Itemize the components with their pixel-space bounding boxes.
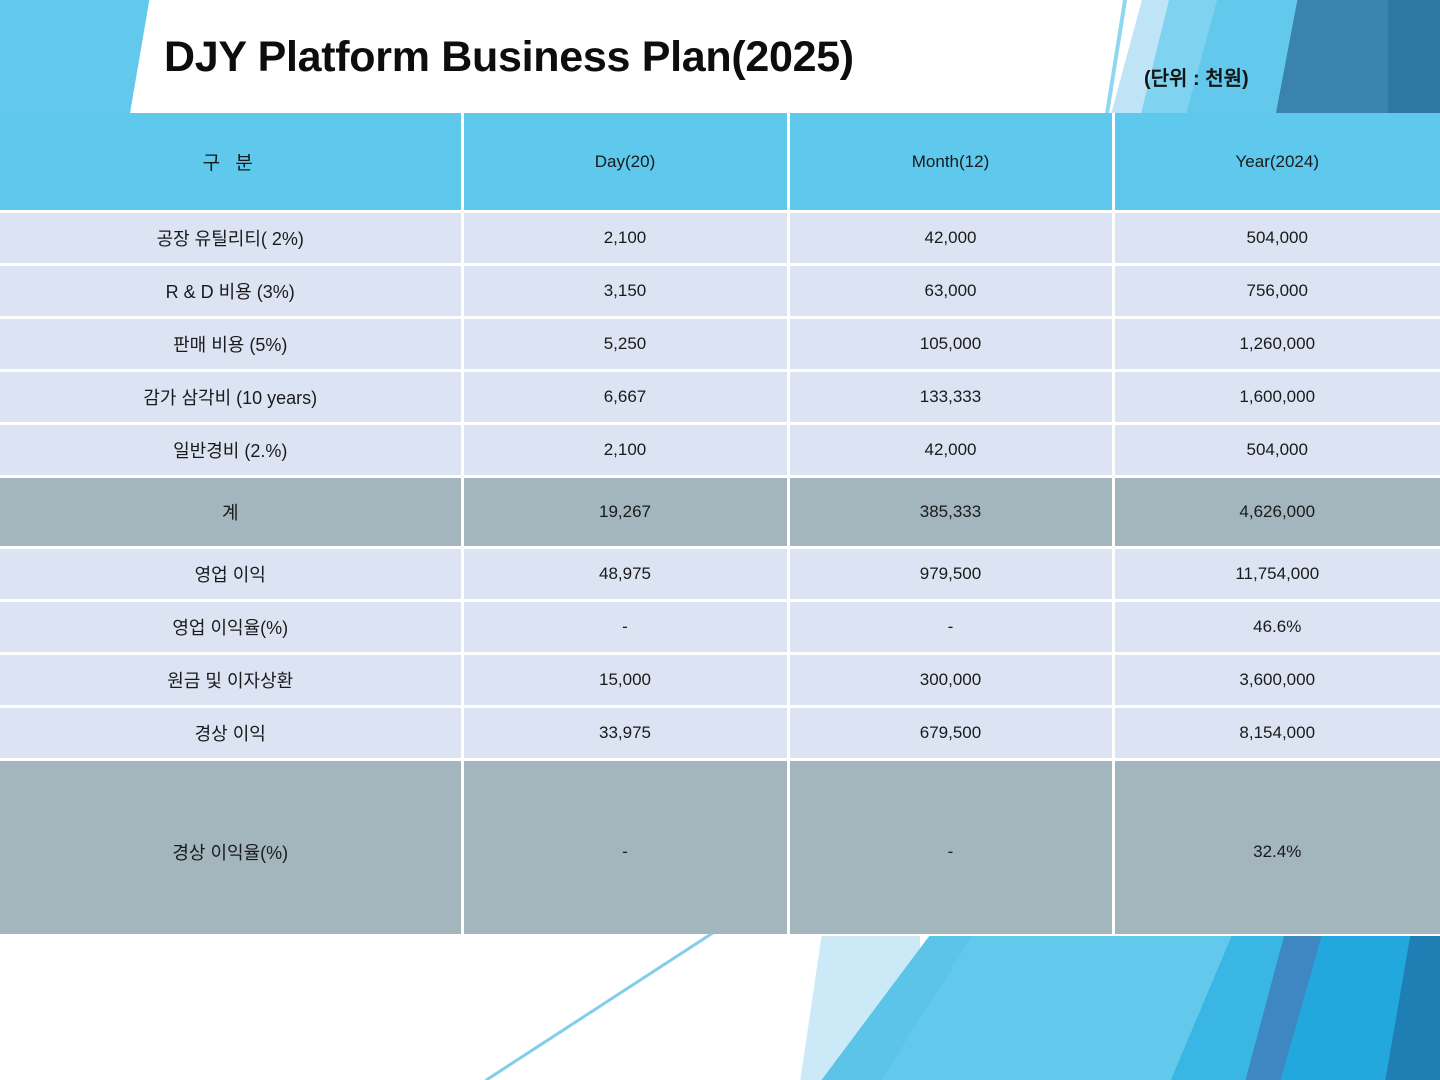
cell-day: 33,975 bbox=[462, 707, 788, 760]
cell-month: 385,333 bbox=[788, 477, 1113, 548]
row-label: 영업 이익율(%) bbox=[0, 601, 462, 654]
row-label: R & D 비용 (3%) bbox=[0, 265, 462, 318]
cell-day: 19,267 bbox=[462, 477, 788, 548]
cell-year: 756,000 bbox=[1113, 265, 1440, 318]
top-right-darkest-blue-shape bbox=[1388, 0, 1440, 113]
cell-day: 2,100 bbox=[462, 424, 788, 477]
cell-year: 1,600,000 bbox=[1113, 371, 1440, 424]
cell-year: 11,754,000 bbox=[1113, 548, 1440, 601]
row-label: 경상 이익 bbox=[0, 707, 462, 760]
top-left-blue-shape bbox=[0, 0, 150, 113]
cell-day: 2,100 bbox=[462, 212, 788, 265]
cell-month: - bbox=[788, 601, 1113, 654]
row-label: 원금 및 이자상환 bbox=[0, 654, 462, 707]
business-plan-table: 구 분 Day(20) Month(12) Year(2024) 공장 유틸리티… bbox=[0, 113, 1440, 942]
table-row: 일반경비 (2.%)2,10042,000504,000 bbox=[0, 424, 1440, 477]
table-row: 감가 삼각비 (10 years)6,667133,3331,600,000 bbox=[0, 371, 1440, 424]
cell-day: 5,250 bbox=[462, 318, 788, 371]
cell-day: - bbox=[462, 601, 788, 654]
cell-year: 8,154,000 bbox=[1113, 707, 1440, 760]
cell-year: 46.6% bbox=[1113, 601, 1440, 654]
table-row: 판매 비용 (5%)5,250105,0001,260,000 bbox=[0, 318, 1440, 371]
page-title: DJY Platform Business Plan(2025) bbox=[164, 33, 854, 82]
cell-month: 133,333 bbox=[788, 371, 1113, 424]
bottom-diagonal-line-shape bbox=[485, 934, 772, 1080]
footer-decoration-band bbox=[0, 934, 1440, 1080]
cell-year: 504,000 bbox=[1113, 424, 1440, 477]
column-header-month: Month(12) bbox=[788, 113, 1113, 212]
cell-day: 3,150 bbox=[462, 265, 788, 318]
cell-day: - bbox=[462, 760, 788, 943]
cell-day: 6,667 bbox=[462, 371, 788, 424]
cell-month: 42,000 bbox=[788, 212, 1113, 265]
cell-month: 42,000 bbox=[788, 424, 1113, 477]
cell-year: 4,626,000 bbox=[1113, 477, 1440, 548]
cell-month: 63,000 bbox=[788, 265, 1113, 318]
cell-month: 300,000 bbox=[788, 654, 1113, 707]
cell-year: 32.4% bbox=[1113, 760, 1440, 943]
cell-month: 679,500 bbox=[788, 707, 1113, 760]
cell-day: 15,000 bbox=[462, 654, 788, 707]
row-label: 계 bbox=[0, 477, 462, 548]
table-row: 영업 이익48,975979,50011,754,000 bbox=[0, 548, 1440, 601]
row-label: 판매 비용 (5%) bbox=[0, 318, 462, 371]
table-row: 공장 유틸리티( 2%)2,10042,000504,000 bbox=[0, 212, 1440, 265]
cell-year: 3,600,000 bbox=[1113, 654, 1440, 707]
table-row: 경상 이익33,975679,5008,154,000 bbox=[0, 707, 1440, 760]
table-body: 공장 유틸리티( 2%)2,10042,000504,000R & D 비용 (… bbox=[0, 212, 1440, 943]
row-label: 일반경비 (2.%) bbox=[0, 424, 462, 477]
table-row: 경상 이익율(%)--32.4% bbox=[0, 760, 1440, 943]
table-row: R & D 비용 (3%)3,15063,000756,000 bbox=[0, 265, 1440, 318]
table-header-row: 구 분 Day(20) Month(12) Year(2024) bbox=[0, 113, 1440, 212]
column-header-day: Day(20) bbox=[462, 113, 788, 212]
cell-day: 48,975 bbox=[462, 548, 788, 601]
cell-month: 979,500 bbox=[788, 548, 1113, 601]
row-label: 감가 삼각비 (10 years) bbox=[0, 371, 462, 424]
cell-month: 105,000 bbox=[788, 318, 1113, 371]
column-header-year: Year(2024) bbox=[1113, 113, 1440, 212]
cell-year: 1,260,000 bbox=[1113, 318, 1440, 371]
table-row: 영업 이익율(%)--46.6% bbox=[0, 601, 1440, 654]
row-label: 경상 이익율(%) bbox=[0, 760, 462, 943]
cell-year: 504,000 bbox=[1113, 212, 1440, 265]
table-row: 원금 및 이자상환15,000300,0003,600,000 bbox=[0, 654, 1440, 707]
column-header-category: 구 분 bbox=[0, 113, 462, 212]
row-label: 공장 유틸리티( 2%) bbox=[0, 212, 462, 265]
table-row: 계19,267385,3334,626,000 bbox=[0, 477, 1440, 548]
cell-month: - bbox=[788, 760, 1113, 943]
unit-note: (단위 : 천원) bbox=[1144, 62, 1249, 91]
row-label: 영업 이익 bbox=[0, 548, 462, 601]
